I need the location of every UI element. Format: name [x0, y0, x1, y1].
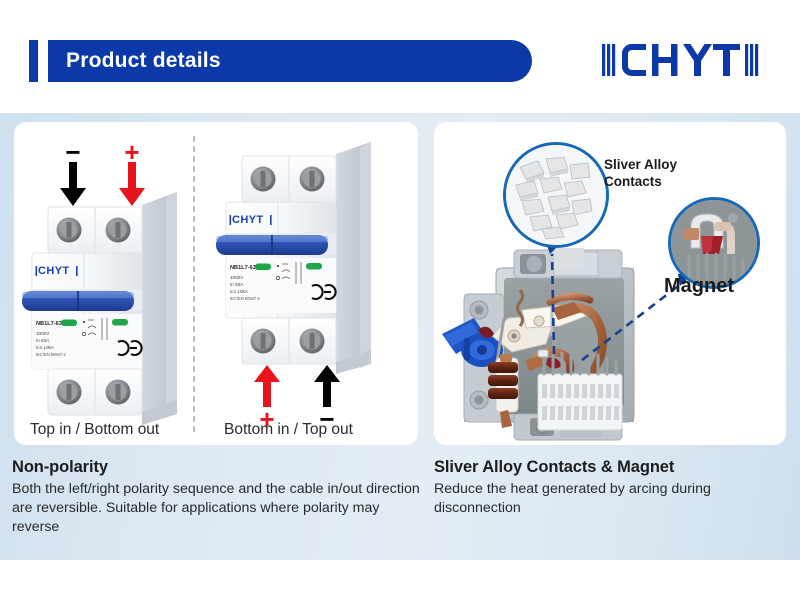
- product-details-page: Product details: [0, 0, 800, 591]
- silver-contacts-photo: [506, 145, 606, 245]
- page-title: Product details: [66, 40, 221, 82]
- photo-divider: [193, 136, 195, 432]
- polarity-mark-left-positive: +: [117, 144, 147, 208]
- arrow-up-icon: [312, 364, 342, 408]
- contacts-magnet-description: Reduce the heat generated by arcing duri…: [434, 480, 786, 518]
- svg-text:NB1L7-63: NB1L7-63: [230, 265, 256, 271]
- polarity-mark-right-positive: +: [252, 364, 282, 427]
- svg-text:IEC/EN 60947-2: IEC/EN 60947-2: [36, 352, 67, 357]
- callout-line-1: Sliver Alloy: [604, 156, 677, 173]
- arrow-up-icon: [252, 364, 282, 408]
- contacts-magnet-text-block: Sliver Alloy Contacts & Magnet Reduce th…: [434, 458, 786, 518]
- page-header: Product details: [0, 0, 800, 113]
- svg-text:1000V: 1000V: [36, 331, 50, 336]
- svg-text:Icn 10kA: Icn 10kA: [36, 345, 55, 350]
- svg-text:IEC/EN 60947-2: IEC/EN 60947-2: [230, 296, 261, 301]
- svg-text:Icn 10kA: Icn 10kA: [230, 289, 249, 294]
- arrow-down-icon: [58, 160, 88, 208]
- caption-bottom-in-top-out: Bottom in / Top out: [224, 421, 353, 439]
- breaker-cutaway-body: [442, 248, 634, 440]
- svg-text:CHYT: CHYT: [232, 214, 264, 226]
- caption-top-in-bottom-out: Top in / Bottom out: [30, 421, 159, 439]
- breaker-right: CHYT NB1L7-63 1000V In 63A Icn 10kA IEC/…: [216, 142, 371, 374]
- plus-symbol: +: [117, 144, 147, 160]
- logo-svg: [600, 40, 760, 80]
- contacts-magnet-heading: Sliver Alloy Contacts & Magnet: [434, 458, 786, 477]
- callout-label-silver-alloy-contacts: Sliver Alloy Contacts: [604, 156, 677, 190]
- svg-text:CHYT: CHYT: [38, 265, 70, 277]
- callout-line-2: Contacts: [604, 173, 677, 190]
- callout-label-magnet: Magnet: [664, 278, 734, 295]
- chyt-logo: [600, 40, 760, 80]
- breaker-left: CHYT NB1L7-63 1000V In 63A Icn 10kA IEC/…: [22, 192, 177, 425]
- silver-alloy-contacts-bubble: [503, 142, 609, 248]
- magnet-photo: [671, 200, 757, 286]
- svg-text:In 63A: In 63A: [36, 338, 50, 343]
- header-accent-bar: [29, 40, 38, 82]
- arrow-down-icon: [117, 160, 147, 208]
- svg-text:NB1L7-63: NB1L7-63: [36, 321, 62, 327]
- header-banner: Product details: [48, 40, 532, 82]
- polarity-mark-right-negative: −: [312, 364, 342, 427]
- polarity-mark-left-negative: −: [58, 144, 88, 208]
- minus-symbol: −: [58, 144, 88, 160]
- non-polarity-heading: Non-polarity: [12, 458, 424, 477]
- non-polarity-description: Both the left/right polarity sequence an…: [12, 480, 424, 537]
- svg-text:1000V: 1000V: [230, 275, 244, 280]
- non-polarity-text-block: Non-polarity Both the left/right polarit…: [12, 458, 424, 537]
- svg-text:In 63A: In 63A: [230, 282, 244, 287]
